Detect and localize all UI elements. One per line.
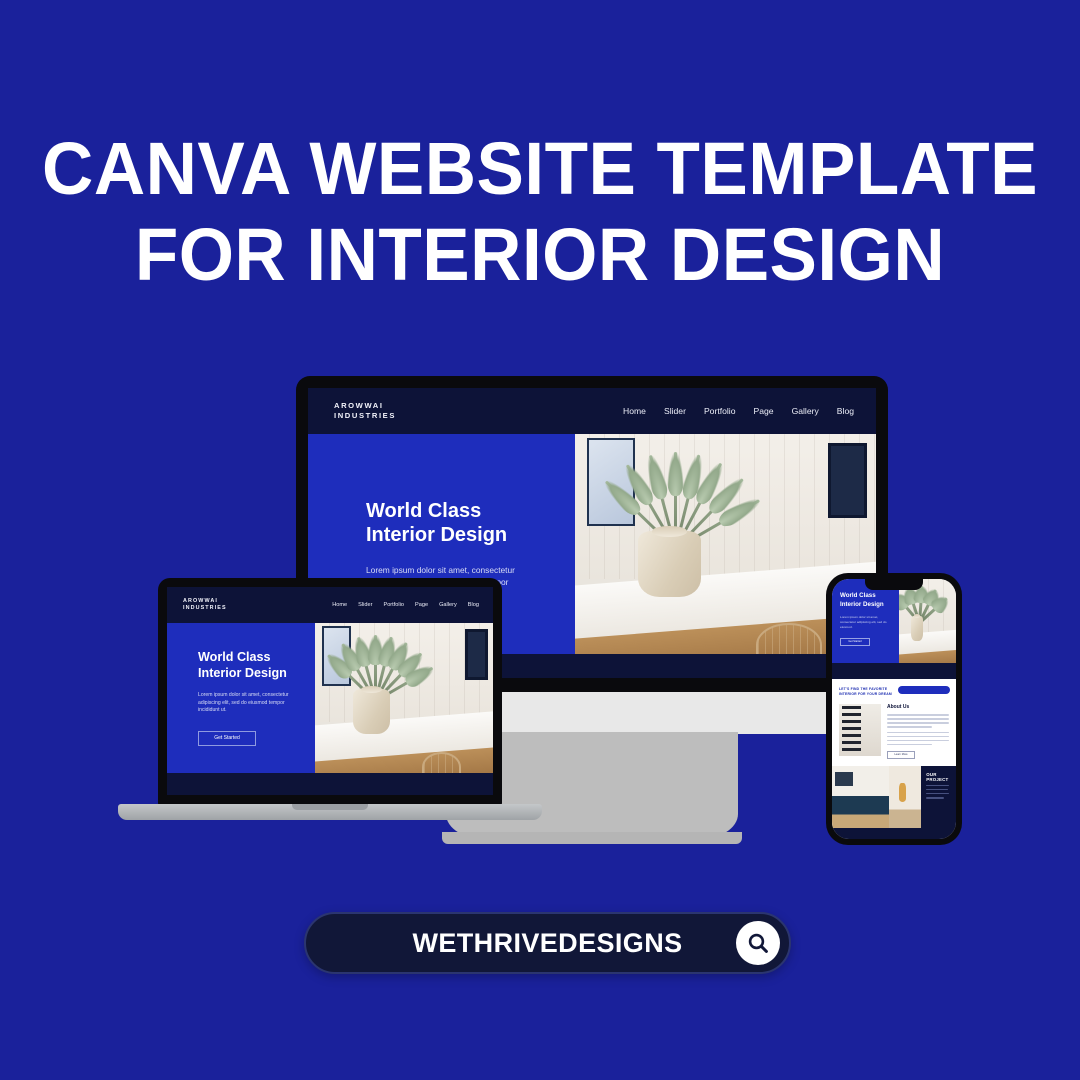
page-title: CANVA WEBSITE TEMPLATE FOR INTERIOR DESI… xyxy=(22,126,1059,298)
phone-about-text: About Us Learn More xyxy=(887,704,949,759)
photo-kitchen xyxy=(832,766,889,828)
laptop-screen: AROWWAI INDUSTRIES Home Slider Portfolio… xyxy=(167,587,493,795)
photo-wall-frame xyxy=(828,443,867,518)
photo-lamp-room xyxy=(889,766,921,828)
site-navbar: AROWWAI INDUSTRIES Home Slider Portfolio… xyxy=(308,388,876,434)
nav-item-gallery[interactable]: Gallery xyxy=(792,406,819,416)
phone-section-kicker: LET'S FIND THE FAVORITE INTERIOR FOR YOU… xyxy=(839,687,901,697)
page-title-line-2: FOR INTERIOR DESIGN xyxy=(22,212,1059,298)
site-logo: AROWWAI INDUSTRIES xyxy=(334,401,396,421)
nav-item-gallery[interactable]: Gallery xyxy=(439,602,457,608)
phone-about-row: About Us Learn More xyxy=(839,704,949,759)
phone-hero-paragraph: Lorem ipsum dolor sit amet, consectetur … xyxy=(840,615,891,631)
site-hero-laptop: World Class Interior Design Lorem ipsum … xyxy=(167,623,493,773)
site-footer-band-laptop xyxy=(167,773,493,795)
interior-photo-phone xyxy=(899,579,956,663)
hero-text-panel-laptop: World Class Interior Design Lorem ipsum … xyxy=(167,623,315,773)
page-title-line-1: CANVA WEBSITE TEMPLATE xyxy=(22,126,1059,212)
photo-wall-frame xyxy=(465,629,488,680)
nav-item-blog[interactable]: Blog xyxy=(468,602,479,608)
nav-item-page[interactable]: Page xyxy=(753,406,773,416)
nav-item-portfolio[interactable]: Portfolio xyxy=(704,406,736,416)
phone-hero-photo xyxy=(899,579,956,663)
hero-photo-laptop xyxy=(315,623,493,773)
site-nav-menu-laptop: Home Slider Portfolio Page Gallery Blog xyxy=(332,602,479,608)
phone-hero-title: World Class Interior Design xyxy=(840,592,891,610)
phone-nav-band xyxy=(832,663,956,679)
phone-project-photo-2 xyxy=(889,766,921,828)
interior-photo-laptop xyxy=(315,623,493,773)
nav-item-slider[interactable]: Slider xyxy=(358,602,372,608)
hero-paragraph-laptop: Lorem ipsum dolor sit amet, consectetur … xyxy=(198,692,301,715)
nav-item-page[interactable]: Page xyxy=(415,602,428,608)
phone-accent-pill xyxy=(898,686,950,694)
phone-project-text: OUR PROJECT xyxy=(921,766,956,828)
photo-staircase xyxy=(839,704,881,756)
brand-bar[interactable]: WETHRIVEDESIGNS xyxy=(304,912,791,974)
phone-footer-band xyxy=(832,828,956,839)
photo-vase xyxy=(911,616,923,641)
phone-about-body-2 xyxy=(887,732,949,745)
nav-item-blog[interactable]: Blog xyxy=(837,406,854,416)
phone-learn-more-button[interactable]: Learn More xyxy=(887,751,915,759)
nav-item-home[interactable]: Home xyxy=(623,406,646,416)
phone-notch xyxy=(865,579,923,590)
device-mockup-stage: AROWWAI INDUSTRIES Home Slider Portfolio… xyxy=(0,360,1080,880)
hero-title-laptop: World Class Interior Design xyxy=(198,650,301,681)
site-navbar-laptop: AROWWAI INDUSTRIES Home Slider Portfolio… xyxy=(167,587,493,623)
laptop-mockup: AROWWAI INDUSTRIES Home Slider Portfolio… xyxy=(118,578,542,840)
nav-item-home[interactable]: Home xyxy=(332,602,347,608)
website-preview-laptop: AROWWAI INDUSTRIES Home Slider Portfolio… xyxy=(167,587,493,795)
nav-item-portfolio[interactable]: Portfolio xyxy=(383,602,404,608)
phone-about-section: LET'S FIND THE FAVORITE INTERIOR FOR YOU… xyxy=(832,679,956,766)
phone-hero: World Class Interior Design Lorem ipsum … xyxy=(832,579,956,663)
site-nav-menu: Home Slider Portfolio Page Gallery Blog xyxy=(623,406,854,416)
laptop-base-notch xyxy=(292,804,368,810)
brand-name: WETHRIVEDESIGNS xyxy=(412,928,682,959)
phone-about-thumbnail xyxy=(839,704,881,756)
phone-body: World Class Interior Design Lorem ipsum … xyxy=(826,573,962,845)
get-started-button[interactable]: Get Started xyxy=(198,731,256,746)
hero-title: World Class Interior Design xyxy=(366,499,549,548)
phone-hero-text: World Class Interior Design Lorem ipsum … xyxy=(832,579,899,663)
phone-mockup: World Class Interior Design Lorem ipsum … xyxy=(826,573,962,845)
photo-vase xyxy=(353,689,390,734)
site-logo-laptop: AROWWAI INDUSTRIES xyxy=(183,598,227,612)
phone-screen: World Class Interior Design Lorem ipsum … xyxy=(832,579,956,839)
phone-project-title: OUR PROJECT xyxy=(926,772,951,782)
phone-project-section: OUR PROJECT xyxy=(832,766,956,828)
nav-item-slider[interactable]: Slider xyxy=(664,406,686,416)
search-icon[interactable] xyxy=(736,921,780,965)
phone-get-started-button[interactable]: Get Started xyxy=(840,638,870,646)
phone-project-photo-1 xyxy=(832,766,889,828)
phone-about-body xyxy=(887,714,949,727)
phone-about-title: About Us xyxy=(887,704,949,710)
laptop-lid: AROWWAI INDUSTRIES Home Slider Portfolio… xyxy=(158,578,502,806)
photo-vase xyxy=(638,531,701,597)
